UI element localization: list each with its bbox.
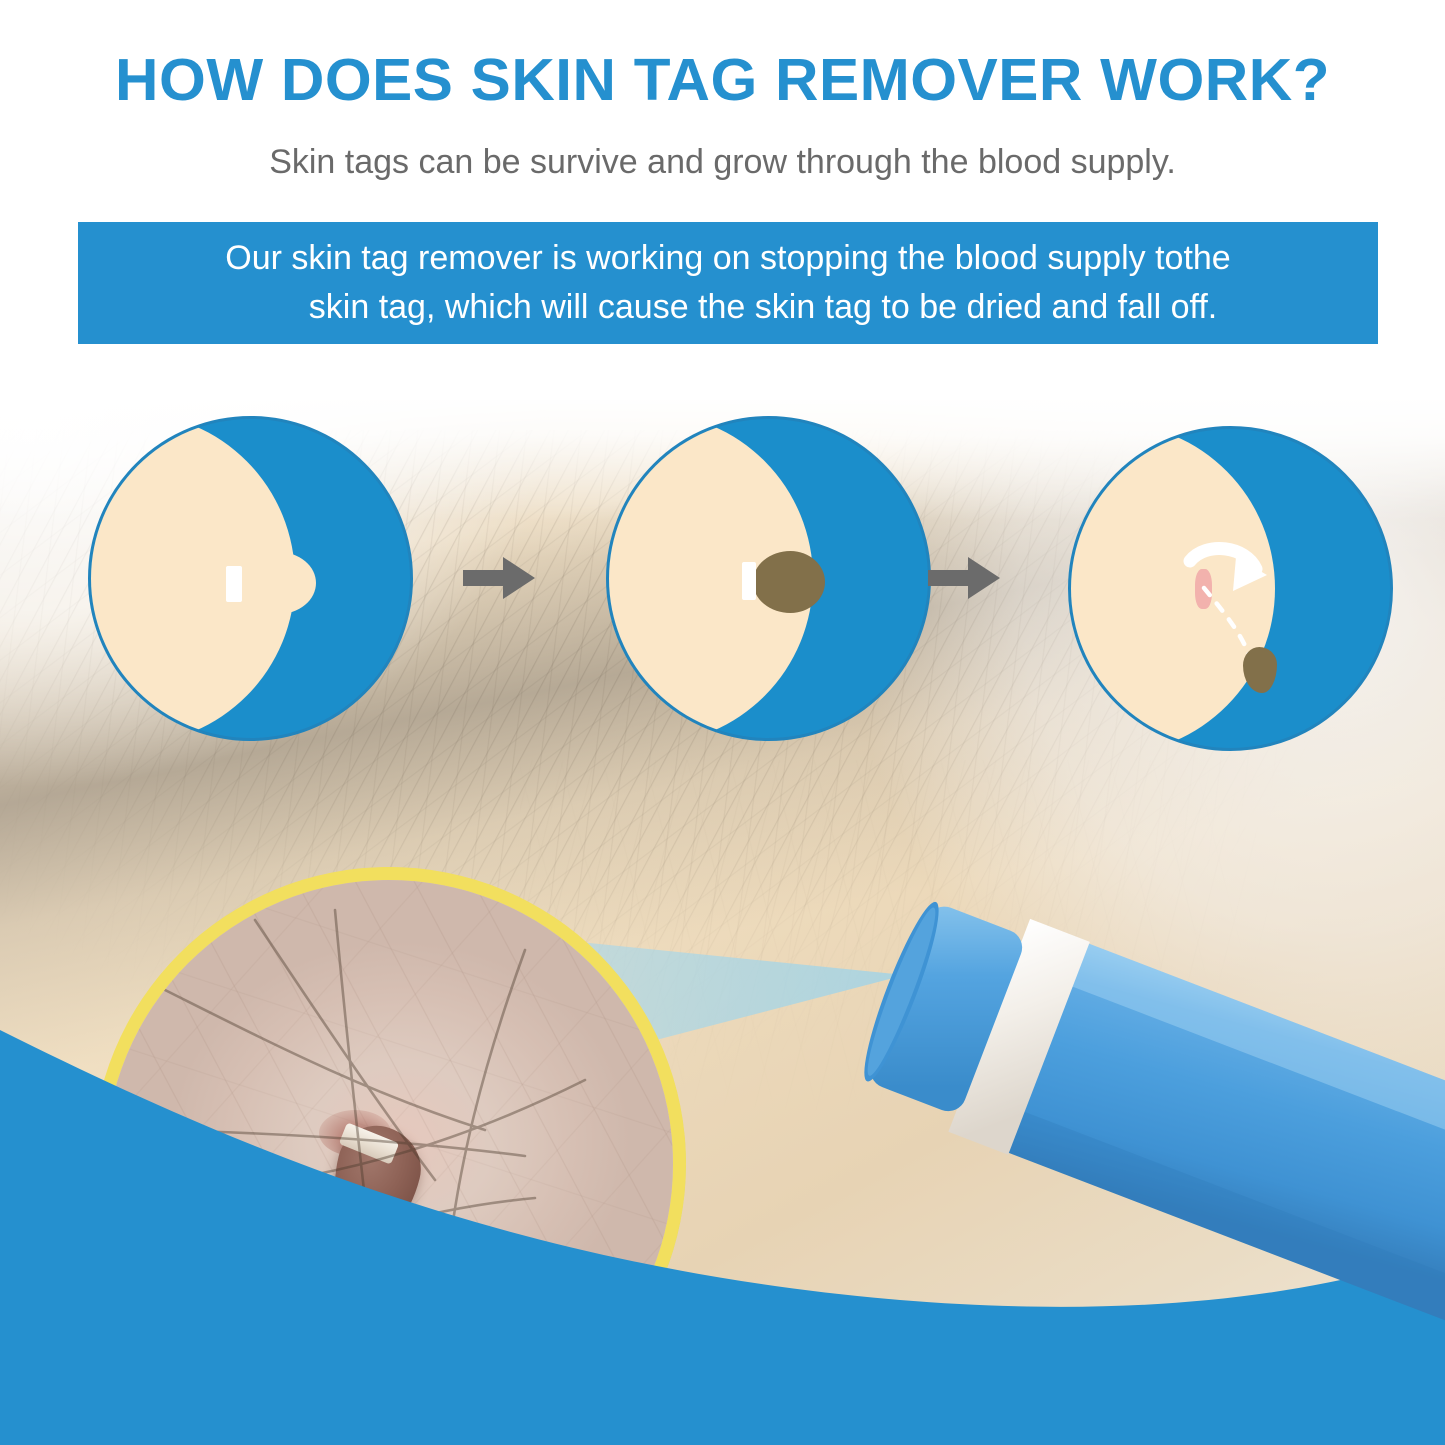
skin-tag-remover-pen: [0, 0, 1445, 1445]
infographic-page: HOW DOES SKIN TAG REMOVER WORK? Skin tag…: [0, 0, 1445, 1445]
